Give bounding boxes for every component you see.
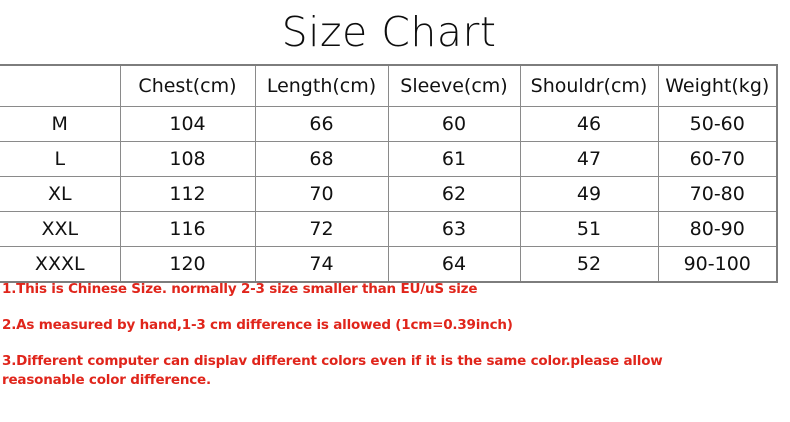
cell-sleeve: 63 (388, 212, 520, 247)
cell-sleeve: 61 (388, 142, 520, 177)
note-color-difference: 3.Different computer can displav differe… (2, 352, 720, 390)
table-header-chest: Chest(cm) (120, 66, 255, 107)
page-title: Size Chart (0, 6, 778, 58)
row-size-label: XXXL (0, 247, 120, 282)
note-measurement-tolerance: 2.As measured by hand,1-3 cm difference … (2, 316, 772, 335)
cell-shoulder: 49 (520, 177, 658, 212)
cell-weight: 70-80 (658, 177, 776, 212)
table-row: XXXL 120 74 64 52 90-100 (0, 247, 776, 282)
cell-weight: 60-70 (658, 142, 776, 177)
cell-shoulder: 51 (520, 212, 658, 247)
table-header-row: Chest(cm) Length(cm) Sleeve(cm) Shouldr(… (0, 66, 776, 107)
table-header-sleeve: Sleeve(cm) (388, 66, 520, 107)
cell-shoulder: 46 (520, 107, 658, 142)
row-size-label: M (0, 107, 120, 142)
cell-weight: 90-100 (658, 247, 776, 282)
size-chart-page: Size Chart Chest(cm) Length(cm) Sleeve(c… (0, 0, 790, 422)
cell-chest: 116 (120, 212, 255, 247)
table-row: M 104 66 60 46 50-60 (0, 107, 776, 142)
notes-section: 1.This is Chinese Size. normally 2-3 siz… (2, 280, 772, 390)
table-header-weight: Weight(kg) (658, 66, 776, 107)
cell-length: 70 (255, 177, 388, 212)
cell-length: 74 (255, 247, 388, 282)
row-size-label: L (0, 142, 120, 177)
cell-shoulder: 47 (520, 142, 658, 177)
cell-weight: 50-60 (658, 107, 776, 142)
cell-sleeve: 62 (388, 177, 520, 212)
cell-length: 68 (255, 142, 388, 177)
table-header-corner (0, 66, 120, 107)
row-size-label: XXL (0, 212, 120, 247)
table-body: M 104 66 60 46 50-60 L 108 68 61 47 60-7… (0, 107, 776, 282)
table-row: L 108 68 61 47 60-70 (0, 142, 776, 177)
cell-chest: 120 (120, 247, 255, 282)
table-header-shoulder: Shouldr(cm) (520, 66, 658, 107)
cell-length: 66 (255, 107, 388, 142)
cell-length: 72 (255, 212, 388, 247)
cell-weight: 80-90 (658, 212, 776, 247)
cell-chest: 108 (120, 142, 255, 177)
cell-chest: 112 (120, 177, 255, 212)
table-header-length: Length(cm) (255, 66, 388, 107)
cell-sleeve: 60 (388, 107, 520, 142)
size-table: Chest(cm) Length(cm) Sleeve(cm) Shouldr(… (0, 66, 776, 281)
table-header: Chest(cm) Length(cm) Sleeve(cm) Shouldr(… (0, 66, 776, 107)
table-row: XL 112 70 62 49 70-80 (0, 177, 776, 212)
row-size-label: XL (0, 177, 120, 212)
cell-sleeve: 64 (388, 247, 520, 282)
size-table-container: Chest(cm) Length(cm) Sleeve(cm) Shouldr(… (0, 64, 778, 283)
table-row: XXL 116 72 63 51 80-90 (0, 212, 776, 247)
cell-chest: 104 (120, 107, 255, 142)
cell-shoulder: 52 (520, 247, 658, 282)
note-chinese-size: 1.This is Chinese Size. normally 2-3 siz… (2, 280, 772, 299)
